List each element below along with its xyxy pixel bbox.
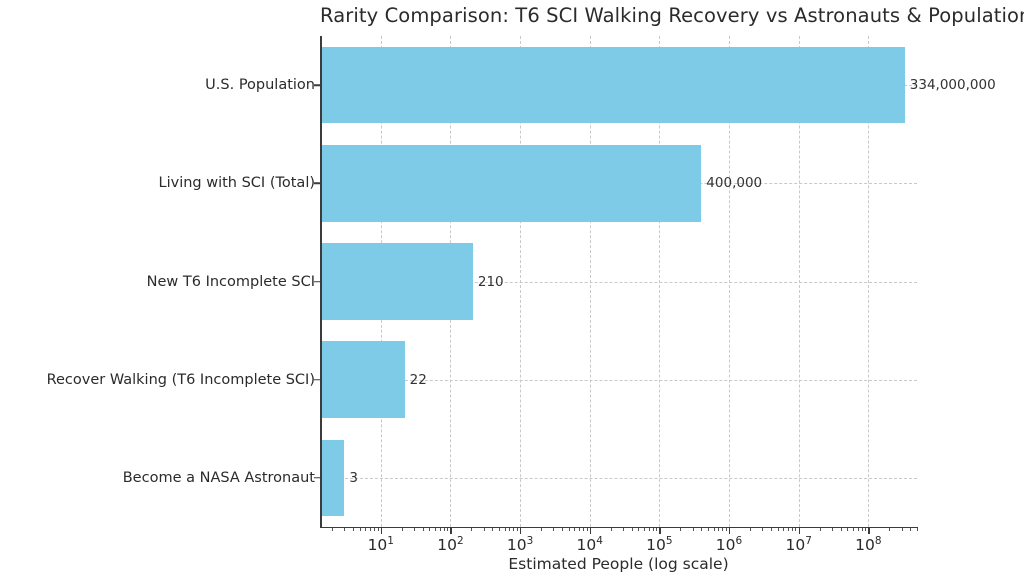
x-minor-tick-mark — [865, 528, 866, 532]
x-tick-label: 101 — [368, 536, 394, 554]
horizontal-gridline — [320, 478, 917, 479]
x-minor-tick-mark — [574, 528, 575, 532]
x-minor-tick-mark — [680, 528, 681, 532]
x-minor-tick-mark — [701, 528, 702, 532]
x-minor-tick-mark — [435, 528, 436, 532]
x-minor-tick-mark — [569, 528, 570, 532]
x-minor-tick-mark — [623, 528, 624, 532]
x-minor-tick-mark — [889, 528, 890, 532]
x-tick-label: 106 — [716, 536, 742, 554]
x-tick-label: 108 — [855, 536, 881, 554]
x-minor-tick-mark — [423, 528, 424, 532]
plot-area — [320, 36, 917, 527]
x-minor-tick-mark — [693, 528, 694, 532]
x-minor-tick-mark — [492, 528, 493, 532]
x-minor-tick-mark — [792, 528, 793, 532]
x-minor-tick-mark — [360, 528, 361, 532]
x-minor-tick-mark — [858, 528, 859, 532]
x-minor-tick-mark — [708, 528, 709, 532]
x-minor-tick-mark — [505, 528, 506, 532]
x-minor-tick-mark — [579, 528, 580, 532]
bar — [320, 440, 344, 517]
x-axis-title: Estimated People (log scale) — [320, 555, 917, 573]
x-minor-tick-mark — [513, 528, 514, 532]
x-minor-tick-mark — [910, 528, 911, 532]
x-tick-mark — [450, 528, 451, 535]
bar-value-label: 22 — [410, 372, 427, 388]
x-minor-tick-mark — [353, 528, 354, 532]
x-tick-label: 103 — [507, 536, 533, 554]
x-minor-tick-mark — [611, 528, 612, 532]
x-minor-tick-mark — [509, 528, 510, 532]
x-minor-tick-mark — [832, 528, 833, 532]
x-minor-tick-mark — [795, 528, 796, 532]
y-tick-label: U.S. Population — [205, 77, 315, 93]
x-minor-tick-mark — [562, 528, 563, 532]
bar — [320, 145, 701, 222]
y-tick-label: Become a NASA Astronaut — [123, 470, 315, 486]
x-minor-tick-mark — [644, 528, 645, 532]
x-minor-tick-mark — [332, 528, 333, 532]
x-tick-mark — [868, 528, 869, 535]
x-minor-tick-mark — [541, 528, 542, 532]
y-tick-label: Living with SCI (Total) — [159, 175, 315, 191]
x-minor-tick-mark — [788, 528, 789, 532]
x-tick-mark — [799, 528, 800, 535]
bar-value-label: 3 — [349, 470, 358, 486]
x-minor-tick-mark — [853, 528, 854, 532]
x-minor-tick-mark — [653, 528, 654, 532]
x-minor-tick-mark — [917, 528, 918, 532]
x-minor-tick-mark — [841, 528, 842, 532]
x-minor-tick-mark — [718, 528, 719, 532]
chart-title: Rarity Comparison: T6 SCI Walking Recove… — [320, 4, 917, 27]
x-minor-tick-mark — [583, 528, 584, 532]
x-tick-label: 107 — [785, 536, 811, 554]
x-minor-tick-mark — [762, 528, 763, 532]
x-minor-tick-mark — [638, 528, 639, 532]
x-minor-tick-mark — [402, 528, 403, 532]
x-minor-tick-mark — [378, 528, 379, 532]
x-minor-tick-mark — [414, 528, 415, 532]
x-tick-mark — [590, 528, 591, 535]
bar-value-label: 210 — [478, 274, 504, 290]
x-minor-tick-mark — [440, 528, 441, 532]
x-minor-tick-mark — [471, 528, 472, 532]
x-minor-tick-mark — [714, 528, 715, 532]
x-tick-mark — [659, 528, 660, 535]
x-minor-tick-mark — [778, 528, 779, 532]
x-minor-tick-mark — [820, 528, 821, 532]
x-minor-tick-mark — [374, 528, 375, 532]
x-minor-tick-mark — [722, 528, 723, 532]
x-minor-tick-mark — [783, 528, 784, 532]
x-minor-tick-mark — [553, 528, 554, 532]
x-minor-tick-mark — [370, 528, 371, 532]
y-tick-label: New T6 Incomplete SCI — [147, 274, 315, 290]
x-minor-tick-mark — [365, 528, 366, 532]
x-minor-tick-mark — [632, 528, 633, 532]
bar — [320, 341, 405, 418]
x-minor-tick-mark — [447, 528, 448, 532]
x-tick-mark — [381, 528, 382, 535]
x-minor-tick-mark — [862, 528, 863, 532]
x-minor-tick-mark — [517, 528, 518, 532]
bar-value-label: 400,000 — [706, 175, 762, 191]
x-tick-label: 105 — [646, 536, 672, 554]
x-minor-tick-mark — [429, 528, 430, 532]
x-minor-tick-mark — [902, 528, 903, 532]
x-minor-tick-mark — [499, 528, 500, 532]
x-tick-label: 104 — [577, 536, 603, 554]
x-minor-tick-mark — [344, 528, 345, 532]
bar — [320, 47, 905, 124]
x-minor-tick-mark — [444, 528, 445, 532]
y-tick-label: Recover Walking (T6 Incomplete SCI) — [47, 372, 315, 388]
x-minor-tick-mark — [771, 528, 772, 532]
x-minor-tick-mark — [484, 528, 485, 532]
chart-figure: Rarity Comparison: T6 SCI Walking Recove… — [0, 0, 1024, 583]
bar-value-label: 334,000,000 — [910, 77, 996, 93]
x-minor-tick-mark — [649, 528, 650, 532]
x-minor-tick-mark — [587, 528, 588, 532]
x-minor-tick-mark — [847, 528, 848, 532]
x-tick-mark — [520, 528, 521, 535]
x-axis-spine — [320, 527, 918, 529]
x-tick-label: 102 — [437, 536, 463, 554]
x-minor-tick-mark — [750, 528, 751, 532]
x-minor-tick-mark — [726, 528, 727, 532]
x-tick-mark — [729, 528, 730, 535]
bar — [320, 243, 473, 320]
x-minor-tick-mark — [656, 528, 657, 532]
